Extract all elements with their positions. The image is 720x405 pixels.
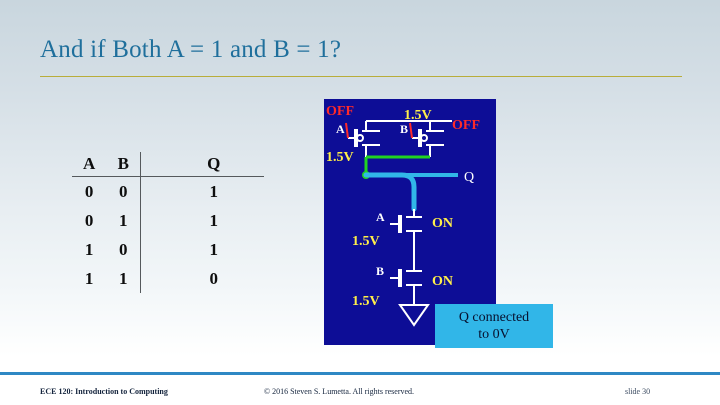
cell-a: 1 [72,264,106,293]
pmos-b-label: B [400,122,408,136]
table-header-spacer [141,152,164,177]
nmos-b-voltage: 1.5V [352,294,380,309]
pmos-a-label: A [336,122,345,136]
title-divider [40,76,682,77]
table-row: 0 1 1 [72,206,264,235]
cell-spacer [141,264,164,293]
table-header-b: B [106,152,141,177]
cell-q: 1 [163,206,264,235]
cell-a: 0 [72,206,106,235]
callout-box: Q connected to 0V [435,304,553,348]
cell-q: 1 [163,235,264,264]
pmos-a-state: OFF [326,104,354,119]
cell-spacer [141,177,164,207]
cell-spacer [141,235,164,264]
footer-slide-number: slide 30 [625,387,650,396]
cell-a: 1 [72,235,106,264]
pmos-b-state: OFF [452,118,480,133]
callout-line-1: Q connected [459,309,529,326]
output-label: Q [464,170,474,185]
page-title: And if Both A = 1 and B = 1? [40,36,341,64]
cell-b: 1 [106,206,141,235]
table-row: 1 1 0 [72,264,264,293]
footer-copyright: © 2016 Steven S. Lumetta. All rights res… [264,387,414,396]
cell-a: 0 [72,177,106,207]
table-row: 1 0 1 [72,235,264,264]
cell-b: 1 [106,264,141,293]
slide: And if Both A = 1 and B = 1? A B Q 0 0 1 [0,0,720,405]
cell-q: 0 [163,264,264,293]
nmos-b-label: B [376,264,384,278]
nmos-a-state: ON [432,216,453,231]
callout-line-2: to 0V [478,326,510,343]
nmos-a-label: A [376,210,385,224]
table-header-a: A [72,152,106,177]
supply-label: 1.5V [404,108,432,123]
table-row: 0 0 1 [72,177,264,207]
pmos-input-voltage: 1.5V [326,150,354,165]
footer-course: ECE 120: Introduction to Computing [40,387,168,396]
cell-b: 0 [106,177,141,207]
table-header-q: Q [163,152,264,177]
truth-table: A B Q 0 0 1 0 1 1 [72,152,264,293]
nmos-b-state: ON [432,274,453,289]
cell-b: 0 [106,235,141,264]
cell-q: 1 [163,177,264,207]
nmos-a-voltage: 1.5V [352,234,380,249]
cell-spacer [141,206,164,235]
